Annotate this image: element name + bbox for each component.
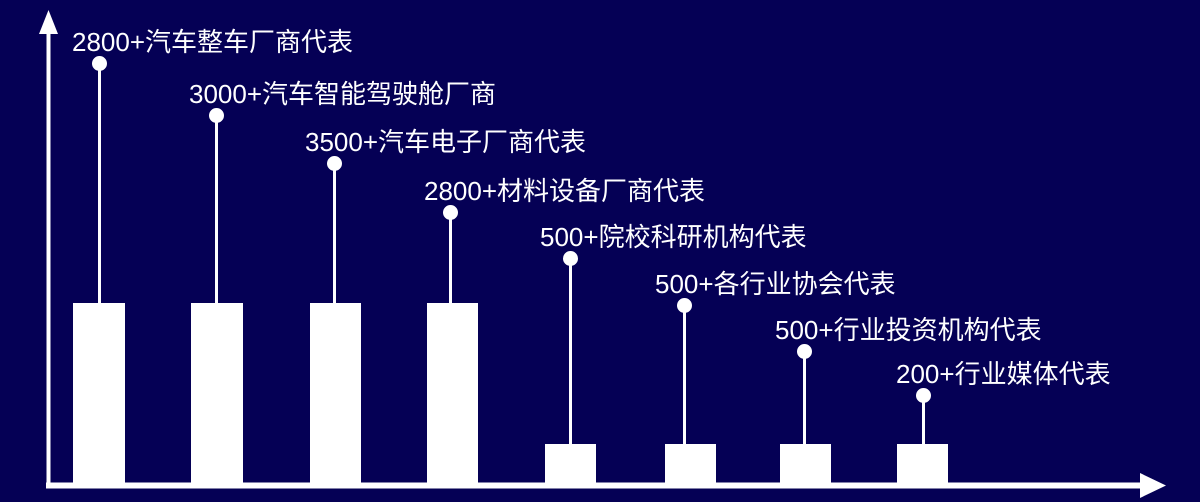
marker-dot-icon [677,298,692,313]
table-row [310,303,361,485]
bar-annotation-label: 3500+汽车电子厂商代表 [305,127,586,157]
marker-dot-icon [797,344,812,359]
leader-line [683,312,686,444]
marker-dot-icon [92,56,107,71]
table-row [545,444,596,485]
leader-line [333,170,336,303]
leader-line [449,219,452,303]
bar-annotation-label: 500+院校科研机构代表 [540,222,807,252]
table-row [427,303,478,485]
leader-line [215,122,218,303]
y-axis-arrow [39,10,58,487]
bar-annotation-label: 3000+汽车智能驾驶舱厂商 [189,79,496,109]
marker-dot-icon [916,388,931,403]
table-row [191,303,243,485]
table-row [73,303,125,485]
bar-annotation-label: 200+行业媒体代表 [896,359,1111,389]
bar-annotation-label: 500+各行业协会代表 [655,269,896,299]
bar-annotation-label: 2800+材料设备厂商代表 [424,176,705,206]
leader-line [922,402,925,444]
bar-annotation-label: 500+行业投资机构代表 [775,315,1042,345]
marker-dot-icon [443,205,458,220]
table-row [780,444,831,485]
leader-line [98,70,101,303]
table-row [665,444,716,485]
bar-annotation-label: 2800+汽车整车厂商代表 [72,27,353,57]
marker-dot-icon [327,156,342,171]
marker-dot-icon [209,108,224,123]
leader-line [803,358,806,444]
attendee-composition-bar-chart: 2800+汽车整车厂商代表 3000+汽车智能驾驶舱厂商 3500+汽车电子厂商… [0,0,1200,502]
leader-line [569,265,572,444]
marker-dot-icon [563,251,578,266]
table-row [897,444,948,485]
